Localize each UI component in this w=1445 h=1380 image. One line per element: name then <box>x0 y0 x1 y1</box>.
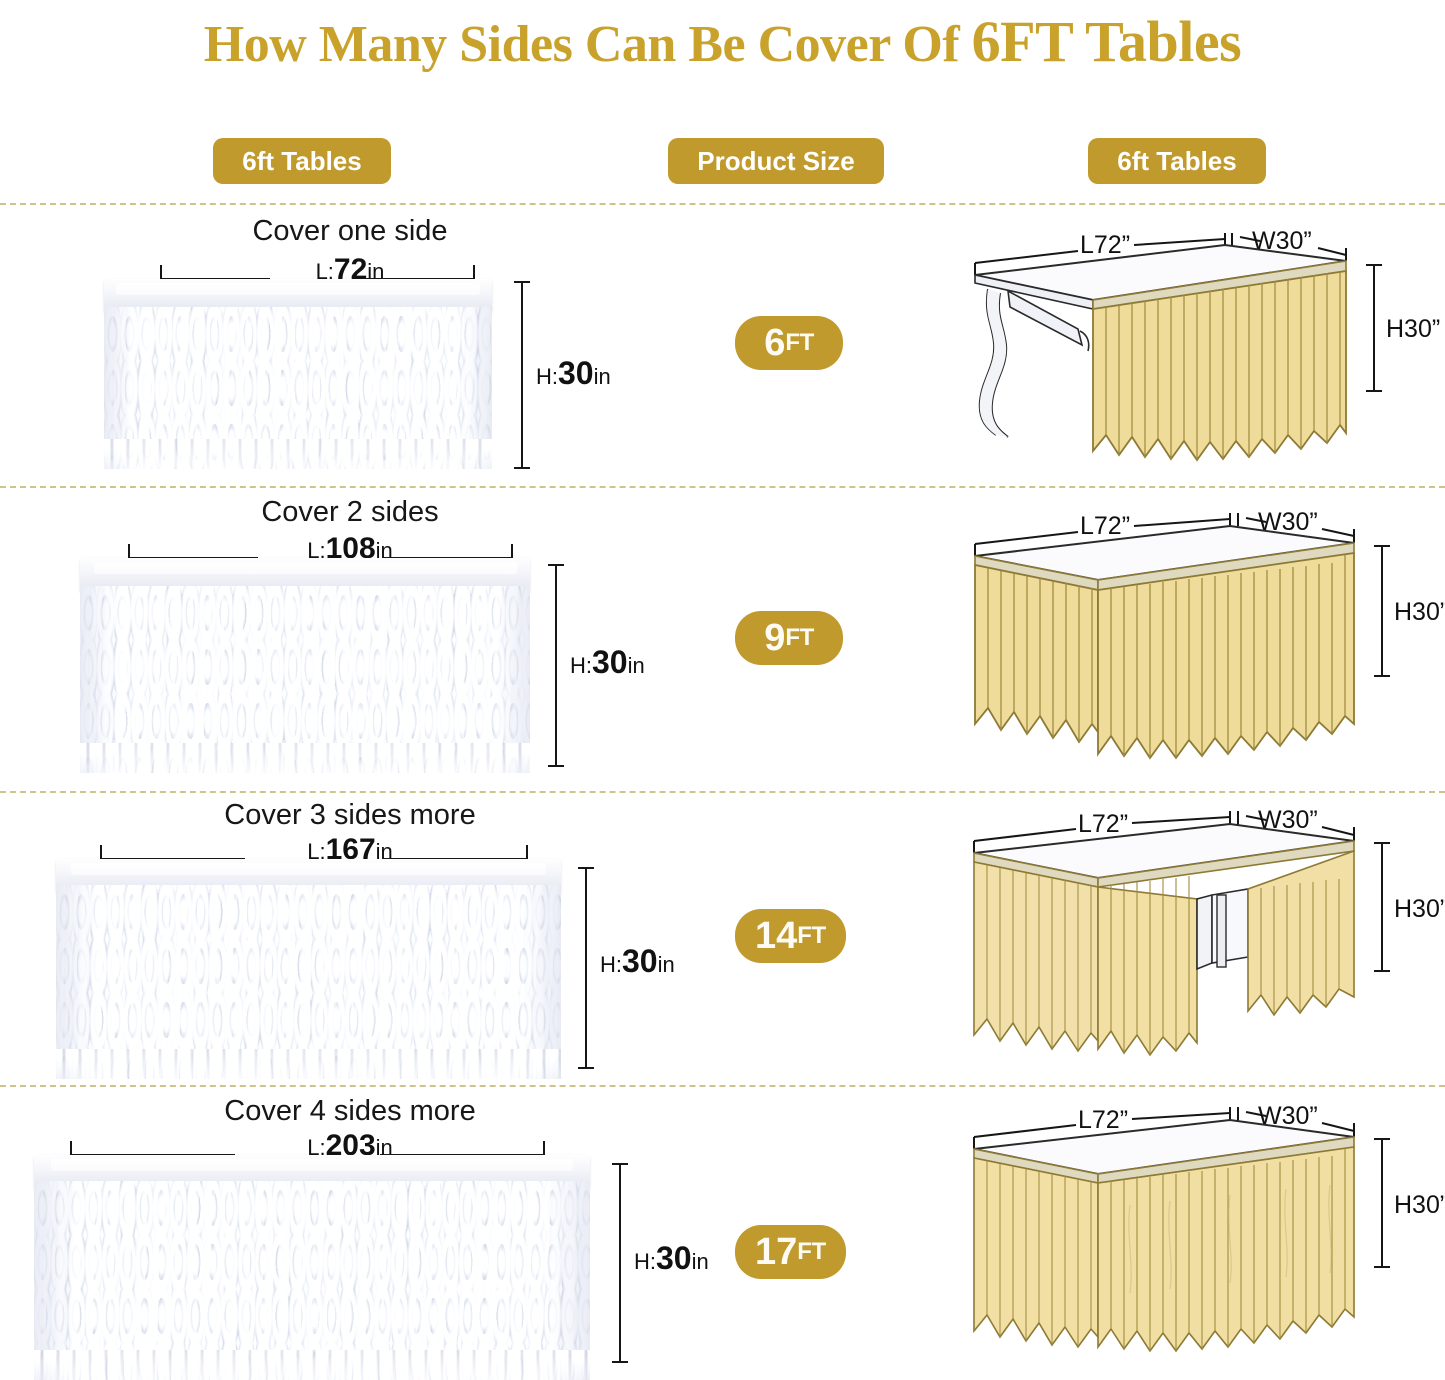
row-0-dim-height: H30” <box>1386 315 1440 343</box>
row-3-dim-length: L72” <box>1078 1106 1128 1134</box>
row-2-dim-length: L72” <box>1078 810 1128 838</box>
row-3-size-unit: FT <box>797 1238 825 1265</box>
row-1-height-unit: in <box>628 653 645 678</box>
row-0-size-unit: FT <box>785 329 813 356</box>
row-2-dim-height: H30” <box>1394 895 1445 923</box>
row-2-height-dimension <box>578 867 594 1069</box>
column-header-right: 6ft Tables <box>1088 138 1266 184</box>
row-1-dim-height: H30” <box>1394 598 1445 626</box>
row-0-height-prefix: H: <box>536 364 558 389</box>
row-2-height-label: H:30in <box>600 943 675 980</box>
row-1-middle-cell: 9FT <box>700 486 930 791</box>
table-row: Cover 3 sides more L:167in H:30in 14FT <box>0 791 1445 1085</box>
row-2-table-diagram: L72” W30” <box>930 791 1445 1085</box>
row-3-length-dimension <box>70 1141 545 1155</box>
row-0-height-unit: in <box>594 364 611 389</box>
row-2-size-number: 14 <box>755 915 797 957</box>
row-2-size-unit: FT <box>797 922 825 949</box>
row-0-left-cell: Cover one side L:72in H:30in <box>0 203 700 486</box>
row-3-table-diagram: L72” W30” <box>930 1085 1445 1380</box>
column-headers: 6ft Tables Product Size 6ft Tables <box>0 138 1445 186</box>
page-title-main: How Many Sides Can Be Cover Of <box>204 16 959 73</box>
row-3-height-label: H:30in <box>634 1240 709 1277</box>
page-title: How Many Sides Can Be Cover Of 6FT Table… <box>0 8 1445 75</box>
row-2-left-cell: Cover 3 sides more L:167in H:30in <box>0 791 700 1085</box>
row-0-height-value: 30 <box>558 355 594 391</box>
row-3-size-badge: 17FT <box>735 1225 846 1279</box>
row-0-table-diagram: L72” W30” <box>930 203 1445 486</box>
row-0-middle-cell: 6FT <box>700 203 930 486</box>
row-1-height-label: H:30in <box>570 644 645 681</box>
row-2-caption: Cover 3 sides more <box>0 799 700 832</box>
row-2-product-photo <box>56 859 561 1079</box>
row-3-dim-height: H30” <box>1394 1191 1445 1219</box>
row-3-height-dimension <box>612 1163 628 1363</box>
row-3-size-number: 17 <box>755 1231 797 1273</box>
row-1-white-skirt <box>80 586 530 773</box>
row-2-size-badge: 14FT <box>735 909 846 963</box>
row-2-length-dimension <box>100 845 528 859</box>
row-0-size-number: 6 <box>764 322 785 364</box>
row-3-right-cell: L72” W30” <box>930 1085 1445 1380</box>
row-0-right-cell: L72” W30” <box>930 203 1445 486</box>
row-2-white-skirt <box>56 885 561 1079</box>
column-header-middle: Product Size <box>668 138 884 184</box>
row-3-height-value: 30 <box>656 1240 692 1276</box>
row-0-height-label: H:30in <box>536 355 611 392</box>
row-1-caption: Cover 2 sides <box>0 496 700 529</box>
row-0-height-dimension <box>514 281 530 469</box>
row-0-size-badge: 6FT <box>735 316 843 370</box>
row-1-length-dimension <box>128 544 513 558</box>
row-2-right-cell: L72” W30” <box>930 791 1445 1085</box>
row-1-left-cell: Cover 2 sides L:108in H:30in <box>0 486 700 791</box>
row-1-size-badge: 9FT <box>735 611 843 665</box>
row-0-product-photo <box>104 279 492 469</box>
row-3-left-cell: Cover 4 sides more L:203in H:30in <box>0 1085 700 1380</box>
row-2-middle-cell: 14FT <box>700 791 930 1085</box>
table-row: Cover 2 sides L:108in H:30in 9FT <box>0 486 1445 791</box>
row-1-size-unit: FT <box>785 624 813 651</box>
row-3-height-prefix: H: <box>634 1249 656 1274</box>
row-2-height-prefix: H: <box>600 952 622 977</box>
row-2-height-unit: in <box>658 952 675 977</box>
row-3-caption: Cover 4 sides more <box>0 1095 700 1128</box>
row-2-height-value: 30 <box>622 943 658 979</box>
table-row: Cover one side L:72in H:30in 6FT <box>0 203 1445 486</box>
row-1-size-number: 9 <box>764 617 785 659</box>
row-1-right-cell: L72” W30” <box>930 486 1445 791</box>
row-0-white-skirt <box>104 307 492 469</box>
row-1-height-value: 30 <box>592 644 628 680</box>
row-3-white-skirt <box>34 1181 590 1380</box>
row-3-product-photo <box>34 1155 590 1380</box>
row-3-middle-cell: 17FT <box>700 1085 930 1380</box>
row-0-dim-length: L72” <box>1080 231 1130 259</box>
row-1-product-photo <box>80 558 530 773</box>
row-1-dim-length: L72” <box>1080 512 1130 540</box>
row-0-length-dimension <box>160 265 475 279</box>
row-1-height-prefix: H: <box>570 653 592 678</box>
row-1-table-diagram: L72” W30” <box>930 486 1445 791</box>
table-row: Cover 4 sides more L:203in H:30in 17FT <box>0 1085 1445 1380</box>
row-1-height-dimension <box>548 564 564 767</box>
row-0-caption: Cover one side <box>0 215 700 248</box>
page-title-emphasis: 6FT Tables <box>972 9 1242 74</box>
column-header-left: 6ft Tables <box>213 138 391 184</box>
